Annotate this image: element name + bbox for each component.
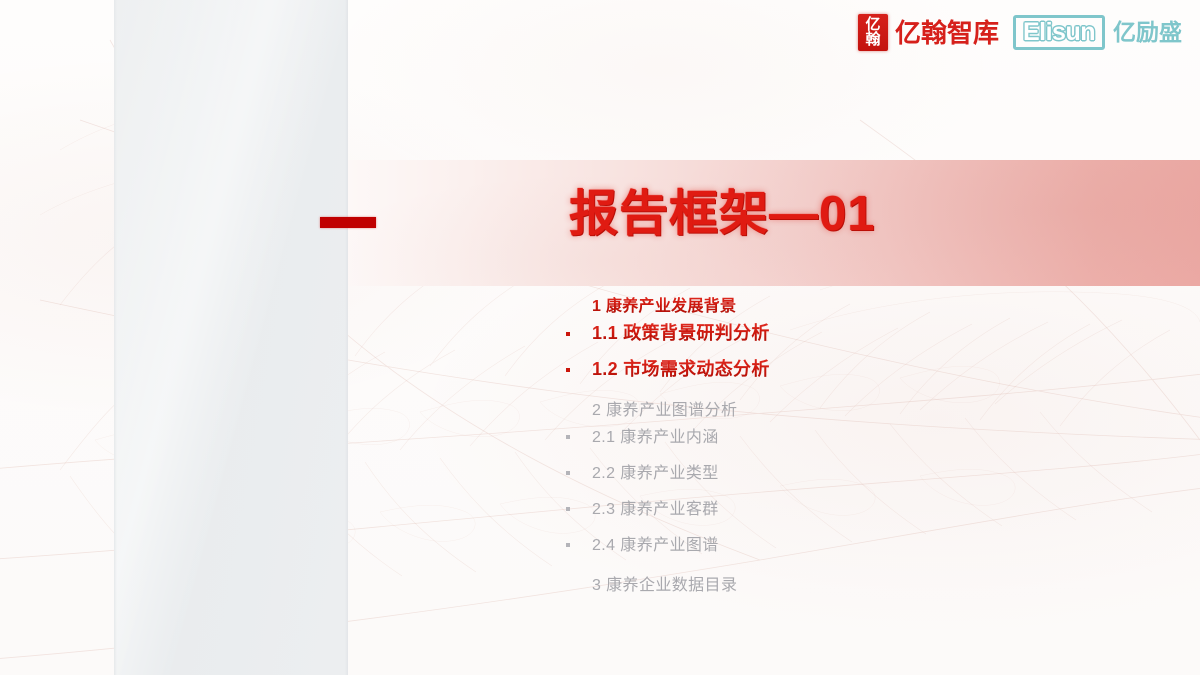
bullet-dot-icon bbox=[566, 499, 592, 514]
bullet-dot-icon bbox=[566, 463, 592, 478]
agenda-label: 1 康养产业发展背景 bbox=[592, 292, 736, 316]
panel-right-edge bbox=[345, 0, 348, 675]
agenda-label: 2 康养产业图谱分析 bbox=[592, 396, 737, 420]
agenda-item-1[interactable]: 1 康养产业发展背景 bbox=[566, 292, 1086, 319]
agenda-item-2[interactable]: 2 康养产业图谱分析 bbox=[566, 396, 1086, 423]
agenda-label: 1.2 市场需求动态分析 bbox=[592, 355, 770, 381]
agenda-item-2-2[interactable]: 2.2 康养产业类型 bbox=[566, 459, 1086, 495]
slide-canvas: 报告框架—01 1 康养产业发展背景 1.1 政策背景研判分析 1.2 市场需求… bbox=[0, 0, 1200, 675]
yihan-seal-icon: 亿 翰 bbox=[858, 14, 888, 51]
elisun-chinese-wordmark: 亿励盛 bbox=[1113, 21, 1182, 44]
agenda-label: 2.2 康养产业类型 bbox=[592, 459, 719, 483]
agenda-item-1-2[interactable]: 1.2 市场需求动态分析 bbox=[566, 355, 1086, 391]
bullet-dot-icon bbox=[566, 535, 592, 550]
yihan-wordmark: 亿翰智库 bbox=[895, 20, 999, 46]
red-dash-accent bbox=[320, 217, 376, 228]
agenda-item-3[interactable]: 3 康养企业数据目录 bbox=[566, 571, 1086, 598]
agenda-label: 2.3 康养产业客群 bbox=[592, 495, 719, 519]
page-title: 报告框架—01 bbox=[569, 190, 876, 239]
agenda-label: 3 康养企业数据目录 bbox=[592, 571, 737, 595]
elisun-logo[interactable]: Elisun 亿励盛 bbox=[1013, 15, 1182, 50]
bullet-dot-icon bbox=[566, 324, 592, 339]
agenda-label: 2.1 康养产业内涵 bbox=[592, 423, 719, 447]
bullet-dot-icon bbox=[566, 427, 592, 442]
panel-left-edge bbox=[114, 0, 117, 675]
agenda-item-2-4[interactable]: 2.4 康养产业图谱 bbox=[566, 531, 1086, 567]
yihan-seal-bottom: 翰 bbox=[865, 33, 880, 47]
agenda-list: 1 康养产业发展背景 1.1 政策背景研判分析 1.2 市场需求动态分析 2 康… bbox=[566, 292, 1086, 598]
logo-bar: 亿 翰 亿翰智库 Elisun 亿励盛 bbox=[858, 14, 1182, 51]
agenda-item-1-1[interactable]: 1.1 政策背景研判分析 bbox=[566, 319, 1086, 355]
agenda-label: 1.1 政策背景研判分析 bbox=[592, 319, 770, 345]
yihan-logo[interactable]: 亿 翰 亿翰智库 bbox=[858, 14, 999, 51]
agenda-label: 2.4 康养产业图谱 bbox=[592, 531, 719, 555]
left-decorative-panel bbox=[114, 0, 348, 675]
elisun-latin-wordmark: Elisun bbox=[1013, 15, 1105, 50]
bullet-dot-icon bbox=[566, 360, 592, 375]
panel-sheen-overlay bbox=[114, 0, 348, 675]
agenda-item-2-1[interactable]: 2.1 康养产业内涵 bbox=[566, 423, 1086, 459]
agenda-item-2-3[interactable]: 2.3 康养产业客群 bbox=[566, 495, 1086, 531]
